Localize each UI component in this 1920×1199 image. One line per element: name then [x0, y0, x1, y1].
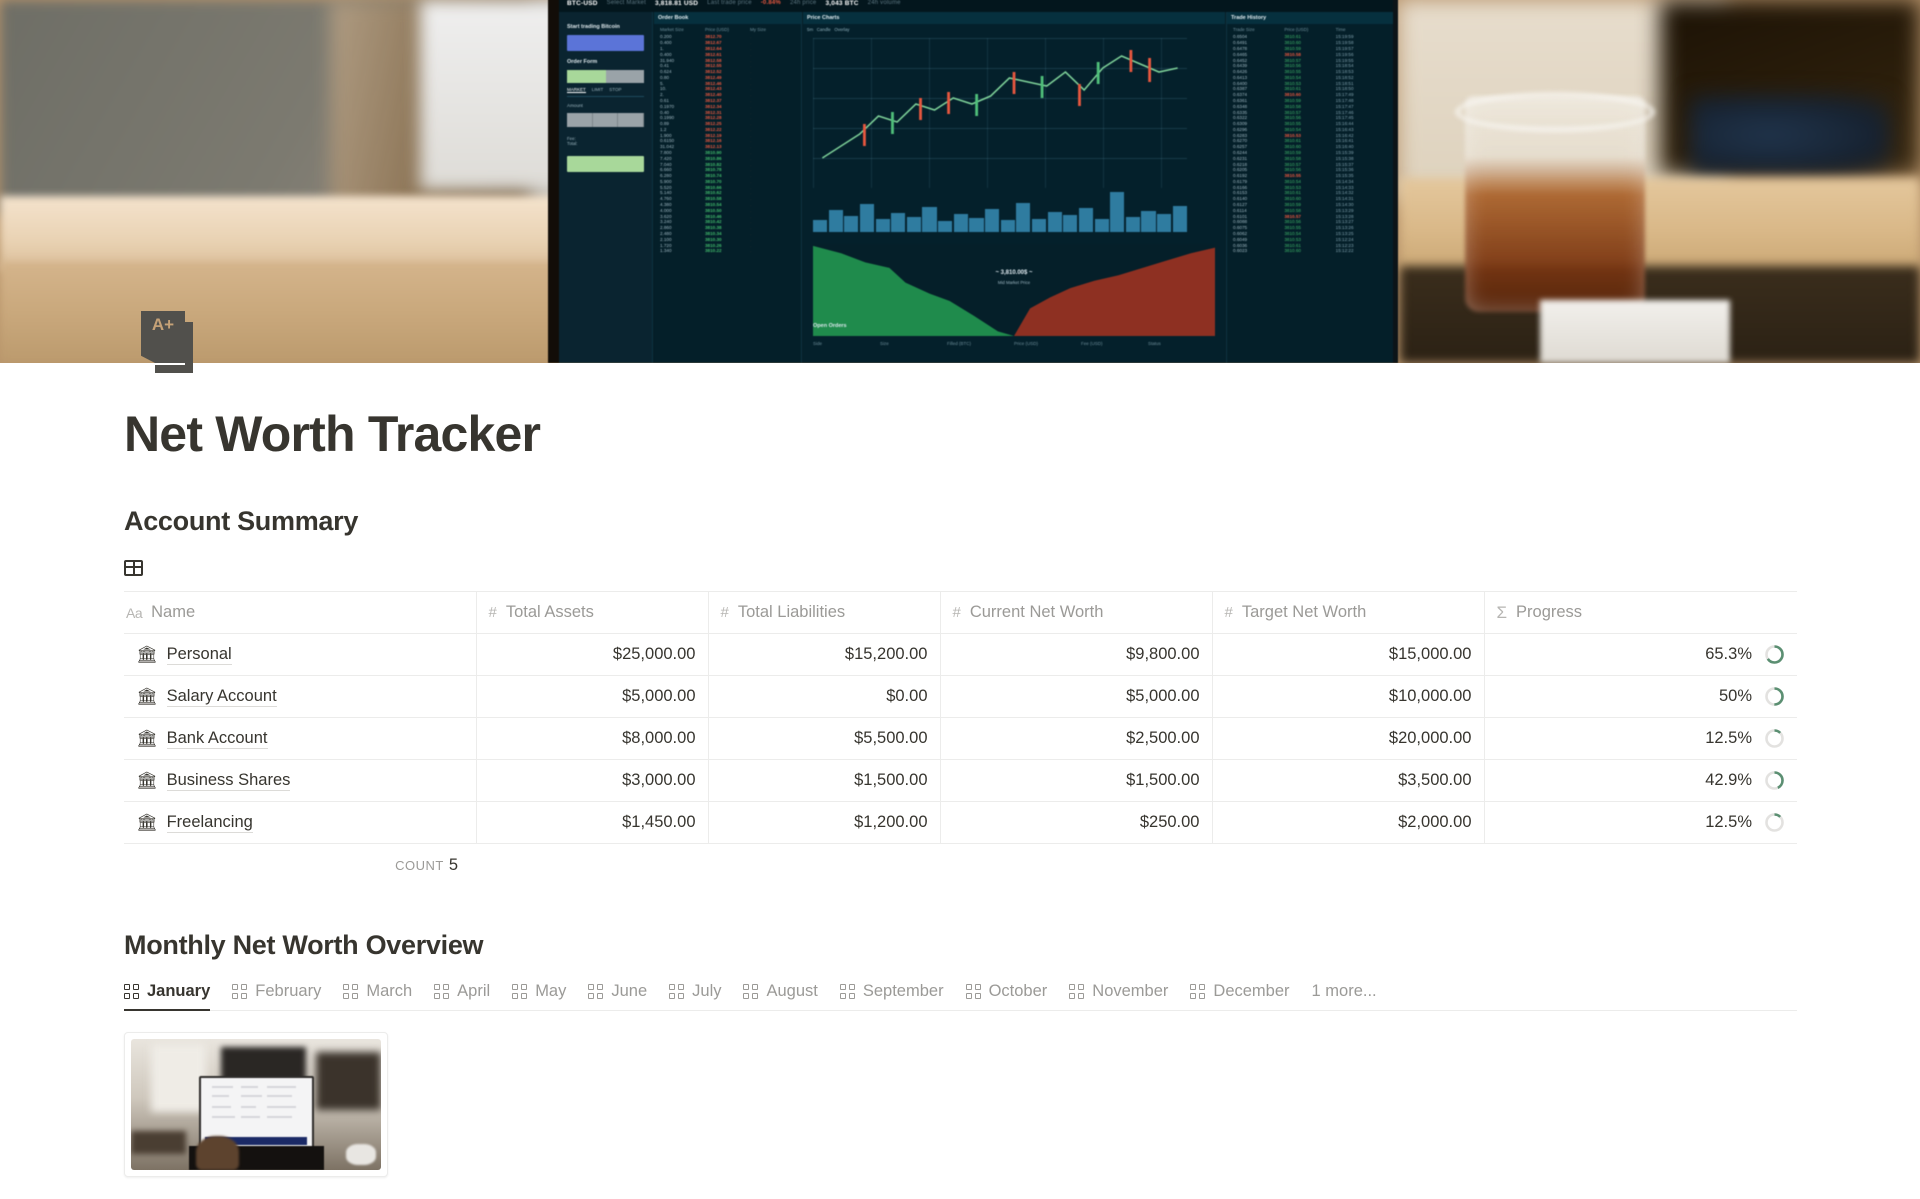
monitor-topbar: BTC-USD Select Market 3,818.81 USD Last …: [559, 0, 1393, 12]
table-icon[interactable]: [124, 560, 143, 576]
tab-label: May: [535, 982, 566, 1001]
column-header-label: Target Net Worth: [1242, 603, 1366, 622]
cell-target-net-worth[interactable]: $20,000.00: [1212, 718, 1484, 760]
progress-ring: [1764, 812, 1785, 833]
column-header-target-net-worth[interactable]: #Target Net Worth: [1212, 592, 1484, 634]
tab-april[interactable]: April: [423, 982, 501, 1010]
tabs-more-button[interactable]: 1 more...: [1301, 982, 1388, 1010]
bank-icon: 🏛: [136, 814, 158, 831]
column-header-label: Current Net Worth: [970, 603, 1104, 622]
cell-name[interactable]: 🏛Bank Account: [124, 718, 476, 760]
monitor-order-form-label: Order Form: [567, 59, 644, 65]
gallery-view-icon: [1069, 984, 1084, 999]
gallery-view-icon: [966, 984, 981, 999]
tab-february[interactable]: February: [221, 982, 332, 1010]
gallery-view-icon: [232, 984, 247, 999]
number-type-icon: #: [489, 605, 497, 620]
gallery-card[interactable]: [124, 1032, 388, 1177]
cell-progress[interactable]: 65.3%: [1484, 634, 1797, 676]
page-icon-label: A+: [141, 315, 185, 335]
table-row[interactable]: 🏛Business Shares$3,000.00$1,500.00$1,500…: [124, 760, 1797, 802]
tab-label: February: [255, 982, 321, 1001]
table-row[interactable]: 🏛Freelancing$1,450.00$1,200.00$250.00$2,…: [124, 802, 1797, 844]
monitor-trade-history-label: Trade History: [1227, 12, 1393, 24]
monitor-trade-history-panel: Trade History Trade SizePrice (USD)Time …: [1226, 12, 1393, 363]
tab-label: November: [1092, 982, 1168, 1001]
month-tabs: JanuaryFebruaryMarchAprilMayJuneJulyAugu…: [124, 982, 1797, 1011]
table-footer-row: COUNT5: [124, 844, 1797, 886]
progress-value: 65.3%: [1705, 645, 1752, 664]
cell-target-net-worth[interactable]: $15,000.00: [1212, 634, 1484, 676]
progress-ring: [1764, 644, 1785, 665]
monitor-order-book-panel: Order Book Market SizePrice (USD)My Size…: [654, 12, 802, 363]
monitor-market-selector: Select Market: [607, 0, 646, 6]
bank-icon: 🏛: [136, 688, 158, 705]
progress-value: 42.9%: [1705, 771, 1752, 790]
column-header-label: Total Assets: [506, 603, 594, 622]
cell-progress[interactable]: 42.9%: [1484, 760, 1797, 802]
tab-march[interactable]: March: [332, 982, 423, 1010]
monitor-mid-market-price: ~ 3,810.00$ ~: [813, 270, 1215, 276]
cell-current-net-worth[interactable]: $5,000.00: [940, 676, 1212, 718]
progress-ring: [1764, 686, 1785, 707]
monitor-change-label: 24h price: [790, 0, 816, 6]
gallery-view-icon: [840, 984, 855, 999]
gallery-view-icon: [743, 984, 758, 999]
tab-october[interactable]: October: [955, 982, 1059, 1010]
cell-current-net-worth[interactable]: $250.00: [940, 802, 1212, 844]
monitor-change: -0.84%: [761, 0, 781, 6]
cell-total-liabilities[interactable]: $15,200.00: [708, 634, 940, 676]
cell-progress[interactable]: 50%: [1484, 676, 1797, 718]
tab-november[interactable]: November: [1058, 982, 1179, 1010]
tab-label: July: [692, 982, 721, 1001]
row-name-label: Salary Account: [167, 687, 277, 707]
column-header-current-net-worth[interactable]: #Current Net Worth: [940, 592, 1212, 634]
cell-current-net-worth[interactable]: $2,500.00: [940, 718, 1212, 760]
monitor-last-price-label: Last trade price: [707, 0, 752, 6]
monthly-overview-heading[interactable]: Monthly Net Worth Overview: [124, 930, 1796, 961]
text-type-icon: Aa: [126, 606, 142, 620]
cell-total-liabilities[interactable]: $1,200.00: [708, 802, 940, 844]
row-name-label: Bank Account: [167, 729, 268, 749]
column-header-name[interactable]: AaName: [124, 592, 476, 634]
table-row[interactable]: 🏛Bank Account$8,000.00$5,500.00$2,500.00…: [124, 718, 1797, 760]
gallery-view-icon: [512, 984, 527, 999]
progress-ring: [1764, 728, 1785, 749]
monitor-last-price: 3,818.81 USD: [655, 0, 698, 7]
gallery-view-icon: [124, 984, 139, 999]
number-type-icon: #: [1225, 605, 1233, 620]
progress-value: 50%: [1719, 687, 1752, 706]
cell-total-assets[interactable]: $8,000.00: [476, 718, 708, 760]
row-name-label: Freelancing: [167, 813, 253, 833]
table-row[interactable]: 🏛Personal$25,000.00$15,200.00$9,800.00$1…: [124, 634, 1797, 676]
monitor-order-book-label: Order Book: [654, 12, 801, 24]
account-summary-table: AaName#Total Assets#Total Liabilities#Cu…: [124, 591, 1797, 844]
database-icon-row: [124, 560, 1796, 582]
monitor-volume-bars: [813, 190, 1187, 232]
monitor-mid-market-label: Mid Market Price: [813, 280, 1215, 285]
cell-progress[interactable]: 12.5%: [1484, 718, 1797, 760]
cell-total-assets[interactable]: $25,000.00: [476, 634, 708, 676]
monitor-volume: 3,043 BTC: [825, 0, 858, 7]
tab-january[interactable]: January: [124, 982, 221, 1010]
gallery-view-icon: [588, 984, 603, 999]
column-header-label: Progress: [1516, 603, 1582, 622]
monitor-open-orders-panel: Open Orders SideSizeFilled (BTC)Price (U…: [813, 323, 1215, 359]
number-type-icon: #: [721, 605, 729, 620]
tab-label: January: [147, 982, 210, 1001]
cell-progress[interactable]: 12.5%: [1484, 802, 1797, 844]
cell-total-liabilities[interactable]: $1,500.00: [708, 760, 940, 802]
tab-july[interactable]: July: [658, 982, 732, 1010]
cell-target-net-worth[interactable]: $3,500.00: [1212, 760, 1484, 802]
count-value: 5: [449, 856, 458, 874]
tab-label: June: [611, 982, 647, 1001]
tab-label: December: [1213, 982, 1289, 1001]
tab-august[interactable]: August: [732, 982, 828, 1010]
account-summary-heading[interactable]: Account Summary: [124, 506, 1796, 537]
column-header-label: Name: [151, 603, 195, 622]
tab-label: October: [989, 982, 1048, 1001]
cell-target-net-worth[interactable]: $2,000.00: [1212, 802, 1484, 844]
gallery-card-image: [131, 1039, 381, 1170]
tab-september[interactable]: September: [829, 982, 955, 1010]
monitor-volume-label: 24h volume: [868, 0, 901, 6]
bank-icon: 🏛: [136, 772, 158, 789]
column-header-total-assets[interactable]: #Total Assets: [476, 592, 708, 634]
monitor-price-chart-panel: Price Charts 5m Candle Overlay: [803, 12, 1225, 363]
tab-label: March: [366, 982, 412, 1001]
tab-december[interactable]: December: [1179, 982, 1300, 1010]
progress-ring: [1764, 770, 1785, 791]
page-icon[interactable]: A+: [141, 311, 193, 373]
cell-name[interactable]: 🏛Business Shares: [124, 760, 476, 802]
cell-total-liabilities[interactable]: $5,500.00: [708, 718, 940, 760]
count-label: COUNT: [395, 858, 444, 873]
column-header-total-liabilities[interactable]: #Total Liabilities: [708, 592, 940, 634]
monitor-start-trading-label: Start trading Bitcoin: [567, 24, 644, 30]
cell-name[interactable]: 🏛Freelancing: [124, 802, 476, 844]
cell-current-net-worth[interactable]: $9,800.00: [940, 634, 1212, 676]
monitor-pair: BTC-USD: [567, 0, 598, 7]
gallery-view-icon: [1190, 984, 1205, 999]
cover-photo: BTC-USD Select Market 3,818.81 USD Last …: [0, 0, 1920, 363]
tab-label: August: [766, 982, 817, 1001]
number-type-icon: #: [953, 605, 961, 620]
page-title[interactable]: Net Worth Tracker: [124, 407, 1796, 462]
gallery-view-icon: [343, 984, 358, 999]
page-content: Net Worth Tracker Account Summary AaName…: [0, 407, 1920, 1177]
gallery-view-icon: [669, 984, 684, 999]
tab-label: September: [863, 982, 944, 1001]
table-row[interactable]: 🏛Salary Account$5,000.00$0.00$5,000.00$1…: [124, 676, 1797, 718]
monitor-order-form-panel: Start trading Bitcoin Order Form MARKETL…: [559, 12, 653, 363]
gallery-view-icon: [434, 984, 449, 999]
cell-total-assets[interactable]: $3,000.00: [476, 760, 708, 802]
tab-june[interactable]: June: [577, 982, 658, 1010]
trading-dashboard-monitor: BTC-USD Select Market 3,818.81 USD Last …: [548, 0, 1398, 363]
cell-name[interactable]: 🏛Personal: [124, 634, 476, 676]
cell-current-net-worth[interactable]: $1,500.00: [940, 760, 1212, 802]
gallery-view: [124, 1032, 1796, 1177]
formula-type-icon: Σ: [1497, 604, 1508, 621]
progress-value: 12.5%: [1705, 729, 1752, 748]
column-header-progress[interactable]: ΣProgress: [1484, 592, 1797, 634]
table-header-row: AaName#Total Assets#Total Liabilities#Cu…: [124, 592, 1797, 634]
tab-may[interactable]: May: [501, 982, 577, 1010]
cell-name[interactable]: 🏛Salary Account: [124, 676, 476, 718]
monitor-price-charts-label: Price Charts: [803, 12, 1225, 24]
cell-total-assets[interactable]: $5,000.00: [476, 676, 708, 718]
column-header-label: Total Liabilities: [738, 603, 845, 622]
row-name-label: Business Shares: [167, 771, 291, 791]
monitor-candlestick-plot: [813, 38, 1187, 188]
cell-target-net-worth[interactable]: $10,000.00: [1212, 676, 1484, 718]
page-cover[interactable]: BTC-USD Select Market 3,818.81 USD Last …: [0, 0, 1920, 363]
progress-value: 12.5%: [1705, 813, 1752, 832]
bank-icon: 🏛: [136, 646, 158, 663]
tab-label: April: [457, 982, 490, 1001]
cell-total-assets[interactable]: $1,450.00: [476, 802, 708, 844]
cell-total-liabilities[interactable]: $0.00: [708, 676, 940, 718]
count-summary[interactable]: COUNT5: [124, 856, 476, 875]
monitor-open-orders-label: Open Orders: [813, 323, 1215, 329]
monitor-get-started-button: [567, 35, 644, 51]
row-name-label: Personal: [167, 645, 232, 665]
bank-icon: 🏛: [136, 730, 158, 747]
